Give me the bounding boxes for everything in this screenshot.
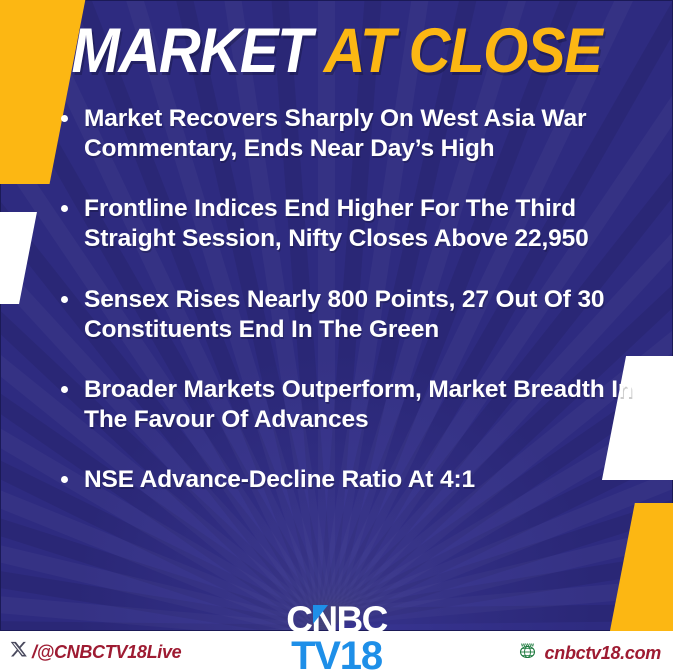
headline-bullet-list: Market Recovers Sharply On West Asia War… (52, 104, 652, 525)
bullet-dot-icon (61, 386, 68, 393)
cnbc-wordmark: CNBC TV18 (286, 602, 386, 672)
bullet-text: Frontline Indices End Higher For The Thi… (84, 194, 652, 254)
bullet-dot-icon (61, 476, 68, 483)
bullet-text: NSE Advance-Decline Ratio At 4:1 (84, 465, 652, 495)
tv18-text: TV18 (286, 636, 386, 672)
market-at-close-graphic: MARKET AT CLOSE Market Recovers Sharply … (0, 0, 673, 672)
bullet-text: Market Recovers Sharply On West Asia War… (84, 104, 652, 164)
title-part-market: MARKET (72, 16, 312, 86)
list-item: Sensex Rises Nearly 800 Points, 27 Out O… (52, 285, 652, 345)
peacock-triangle-icon (313, 605, 328, 624)
bullet-dot-icon (61, 205, 68, 212)
bullet-text: Broader Markets Outperform, Market Bread… (84, 375, 652, 435)
bullet-dot-icon (61, 296, 68, 303)
cnbc-tv18-logo: CNBC TV18 (0, 602, 673, 672)
page-title: MARKET AT CLOSE (27, 18, 646, 84)
bullet-dot-icon (61, 115, 68, 122)
list-item: Broader Markets Outperform, Market Bread… (52, 375, 652, 435)
list-item: NSE Advance-Decline Ratio At 4:1 (52, 465, 652, 495)
title-part-at-close: AT CLOSE (324, 16, 602, 86)
list-item: Frontline Indices End Higher For The Thi… (52, 194, 652, 254)
list-item: Market Recovers Sharply On West Asia War… (52, 104, 652, 164)
bullet-text: Sensex Rises Nearly 800 Points, 27 Out O… (84, 285, 652, 345)
